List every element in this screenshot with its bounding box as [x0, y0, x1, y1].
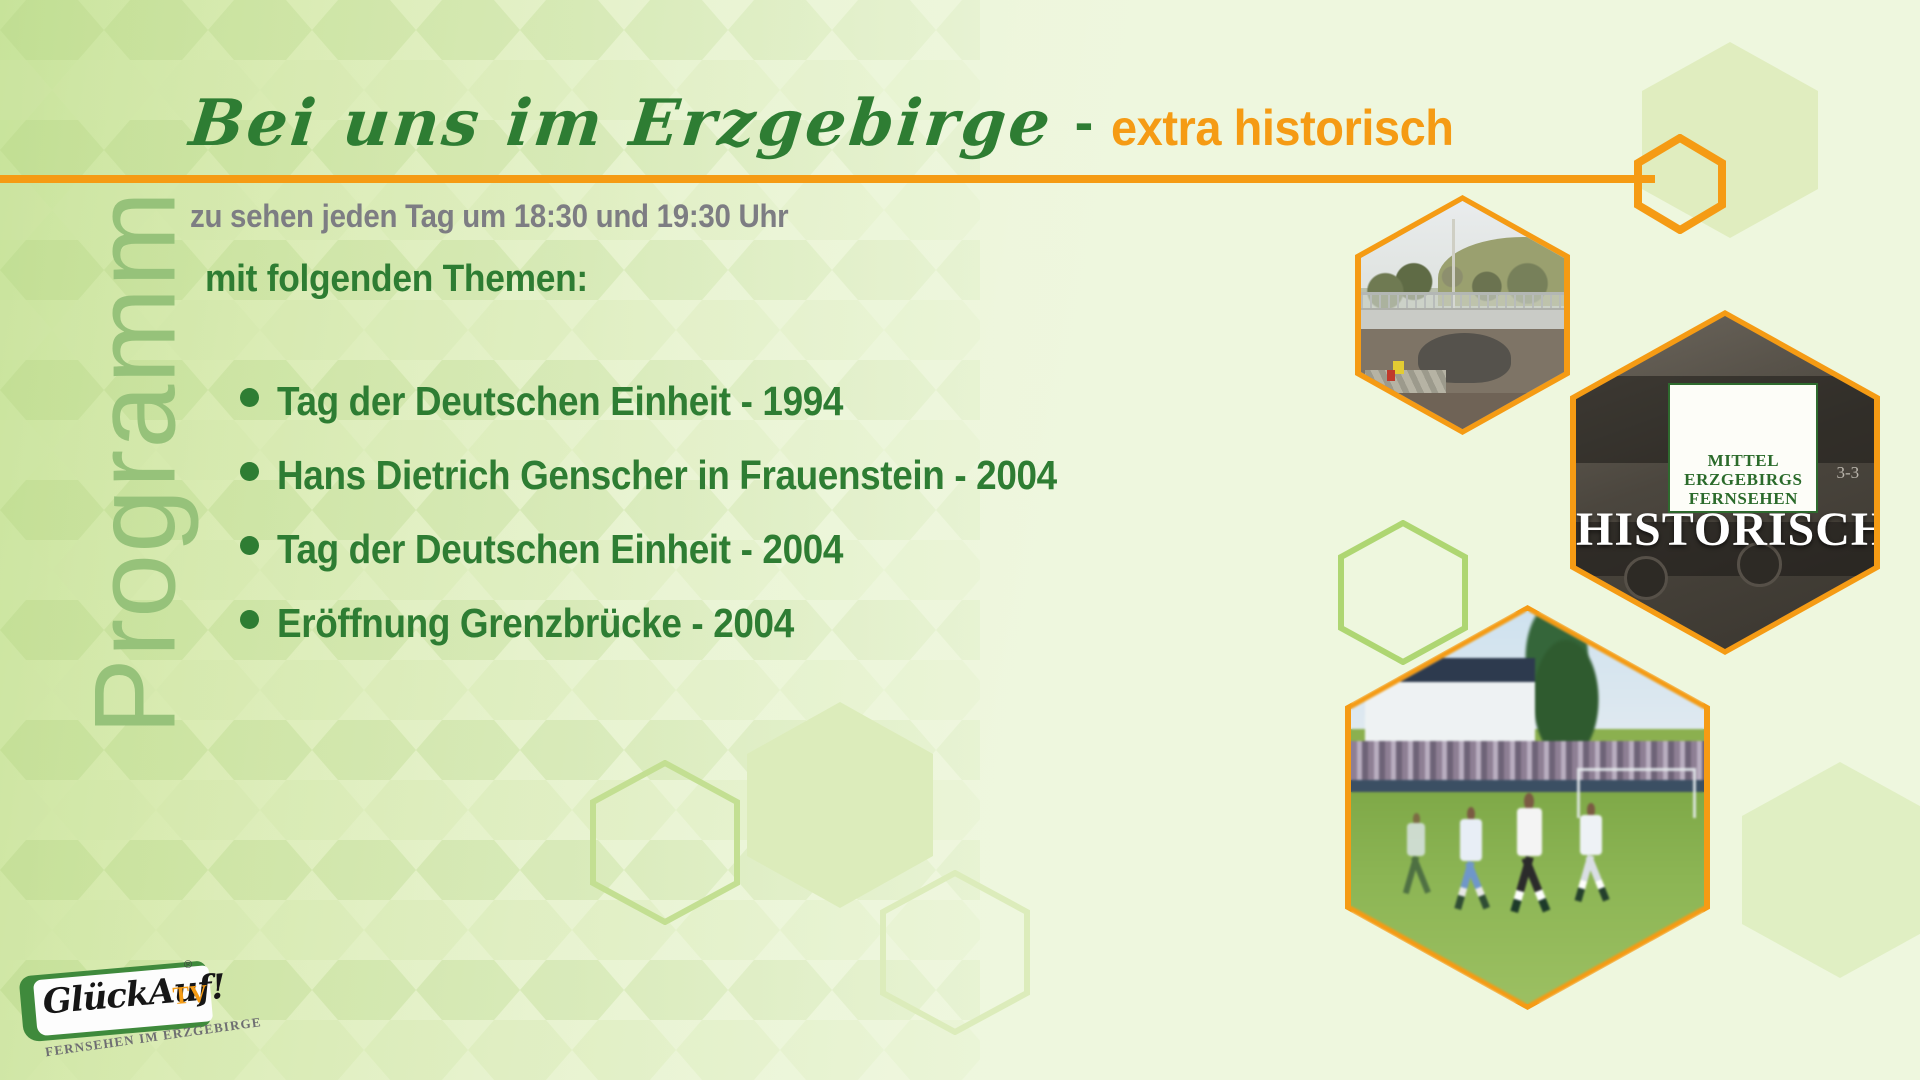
decorative-hexagon-outline-3: [1338, 520, 1468, 665]
title-rule: [0, 175, 1655, 183]
bullet-dot-icon: [240, 536, 259, 555]
historisch-word: HISTORISCH: [1576, 502, 1874, 557]
topic-label: Tag der Deutschen Einheit - 2004: [277, 526, 843, 573]
list-item: Hans Dietrich Genscher in Frauenstein - …: [240, 452, 1240, 499]
title-accent-text: extra historisch: [1111, 99, 1454, 157]
programm-watermark: Programm: [79, 113, 194, 813]
gluckauf-tv-logo[interactable]: GlückAuf! TV ® FERNSEHEN IM ERZGEBIRGE: [18, 954, 222, 1071]
logo-tv-text: TV: [172, 980, 209, 1011]
bullet-dot-icon: [240, 610, 259, 629]
page-title: Bei uns im Erzgebirge - extra historisch: [190, 92, 1476, 158]
bullet-dot-icon: [240, 388, 259, 407]
list-item: Tag der Deutschen Einheit - 1994: [240, 378, 1240, 425]
mef-line-2: ERZGEBIRGS: [1684, 470, 1802, 489]
title-script-text: Bei uns im Erzgebirge: [187, 92, 1056, 156]
mef-line-1: MITTEL: [1708, 451, 1780, 470]
bridge-photo: [1361, 201, 1564, 429]
topics-list: Tag der Deutschen Einheit - 1994 Hans Di…: [240, 378, 1240, 674]
bullet-dot-icon: [240, 462, 259, 481]
rule-end-hexagon-icon: [1634, 134, 1726, 234]
registered-mark-icon: ®: [184, 959, 193, 972]
topic-label: Eröffnung Grenzbrücke - 2004: [277, 600, 794, 647]
decorative-hexagon-outline-2: [880, 870, 1030, 1035]
list-item: Eröffnung Grenzbrücke - 2004: [240, 600, 1240, 647]
list-item: Tag der Deutschen Einheit - 2004: [240, 526, 1240, 573]
broadcast-times-subtitle: zu sehen jeden Tag um 18:30 und 19:30 Uh…: [190, 198, 788, 235]
mef-logo-card: MITTEL ERZGEBIRGS FERNSEHEN: [1668, 383, 1818, 513]
topics-lead-in: mit folgenden Themen:: [205, 258, 588, 301]
slide-canvas: Programm Bei uns im Erzgebirge - extra h…: [0, 0, 1920, 1080]
title-dash: -: [1075, 89, 1094, 154]
topic-label: Tag der Deutschen Einheit - 1994: [277, 378, 843, 425]
decorative-hexagon-outline-1: [590, 760, 740, 925]
topic-label: Hans Dietrich Genscher in Frauenstein - …: [277, 452, 1057, 499]
hex-photo-bridge-image: [1361, 201, 1564, 429]
locomotive-number: 3-3: [1836, 463, 1859, 483]
decorative-hexagon-bottom-right: [1740, 760, 1920, 980]
